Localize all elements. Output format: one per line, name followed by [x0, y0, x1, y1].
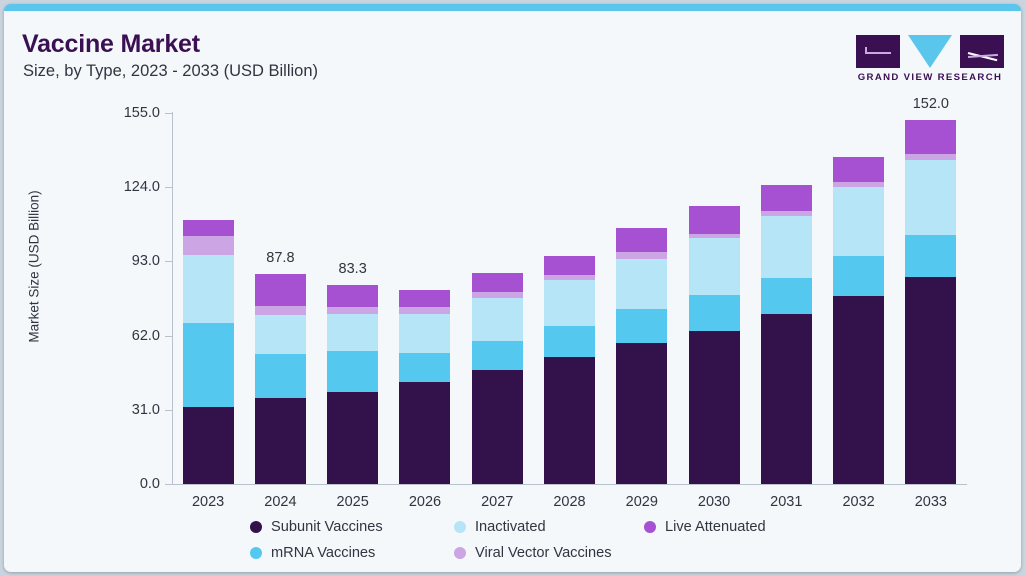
bar-segment[interactable]: [761, 216, 812, 278]
bar-segment[interactable]: [472, 273, 523, 292]
y-axis-tick-mark: [165, 187, 172, 188]
bar-segment[interactable]: [255, 315, 306, 354]
bar-segment[interactable]: [472, 292, 523, 298]
bar-segment[interactable]: [183, 323, 234, 407]
bar-segment[interactable]: [761, 314, 812, 484]
bar-segment[interactable]: [689, 331, 740, 484]
legend-item[interactable]: Inactivated: [454, 519, 546, 535]
bar-segment[interactable]: [399, 382, 450, 484]
y-axis-tick-mark: [165, 336, 172, 337]
x-axis-tick-label: 2026: [409, 494, 441, 510]
bar-segment[interactable]: [544, 326, 595, 357]
bar-segment[interactable]: [905, 277, 956, 484]
x-axis-tick-label: 2025: [337, 494, 369, 510]
bar-segment[interactable]: [616, 228, 667, 252]
x-axis-tick-label: 2023: [192, 494, 224, 510]
legend-item-label: Live Attenuated: [665, 519, 766, 535]
y-axis-tick-label: 31.0: [102, 402, 160, 418]
y-axis-tick-label: 124.0: [102, 179, 160, 195]
logo-wordmark: GRAND VIEW RESEARCH: [856, 72, 1004, 83]
bar-segment[interactable]: [255, 274, 306, 307]
bar-segment[interactable]: [616, 309, 667, 342]
chart-card: Vaccine Market Size, by Type, 2023 - 203…: [4, 4, 1021, 572]
y-axis-tick-label: 0.0: [102, 476, 160, 492]
legend-item-label: mRNA Vaccines: [271, 545, 375, 561]
y-axis-tick-label: 155.0: [102, 105, 160, 121]
bar-value-label: 83.3: [339, 261, 367, 277]
y-axis-tick-label: 62.0: [102, 328, 160, 344]
bar-segment[interactable]: [833, 157, 884, 182]
bar-segment[interactable]: [183, 236, 234, 255]
bar-segment[interactable]: [689, 238, 740, 294]
logo-triangle-icon: [908, 35, 952, 68]
logo-glyphs: [856, 35, 1004, 68]
x-axis-tick-label: 2030: [698, 494, 730, 510]
bar-segment[interactable]: [544, 280, 595, 326]
bar-segment[interactable]: [255, 398, 306, 484]
bar-value-label: 152.0: [913, 96, 949, 112]
x-axis-tick-label: 2033: [915, 494, 947, 510]
chart-legend: Subunit VaccinesInactivatedLive Attenuat…: [250, 519, 810, 572]
x-axis-tick-label: 2031: [770, 494, 802, 510]
legend-color-swatch-icon: [454, 521, 466, 533]
logo-left-tick-icon: [865, 47, 867, 53]
bar-stack[interactable]: [544, 256, 595, 484]
x-axis-tick-label: 2032: [842, 494, 874, 510]
legend-item[interactable]: Viral Vector Vaccines: [454, 545, 612, 561]
legend-item-label: Inactivated: [475, 519, 546, 535]
bar-segment[interactable]: [544, 256, 595, 275]
bar-segment[interactable]: [905, 235, 956, 277]
bar-stack[interactable]: [616, 228, 667, 484]
bar-segment[interactable]: [761, 185, 812, 211]
bar-segment[interactable]: [327, 314, 378, 351]
legend-item[interactable]: Live Attenuated: [644, 519, 766, 535]
bar-segment[interactable]: [833, 182, 884, 187]
bar-segment[interactable]: [255, 306, 306, 315]
bar-stack[interactable]: [689, 206, 740, 484]
bar-stack[interactable]: [761, 185, 812, 484]
x-axis-tick-label: 2029: [626, 494, 658, 510]
bar-segment[interactable]: [327, 307, 378, 315]
bar-segment[interactable]: [833, 296, 884, 484]
logo-block-right-icon: [960, 35, 1004, 68]
y-axis-tick-mark: [165, 410, 172, 411]
y-axis-tick-mark: [165, 484, 172, 485]
y-axis-tick-mark: [165, 113, 172, 114]
legend-item-label: Viral Vector Vaccines: [475, 545, 612, 561]
bar-segment[interactable]: [905, 154, 956, 160]
bar-segment[interactable]: [183, 407, 234, 484]
bar-segment[interactable]: [689, 295, 740, 332]
bar-stack[interactable]: [183, 220, 234, 484]
bar-segment[interactable]: [327, 285, 378, 307]
bar-stack[interactable]: [255, 274, 306, 484]
bar-segment[interactable]: [183, 220, 234, 236]
bar-stack[interactable]: [472, 273, 523, 484]
legend-color-swatch-icon: [250, 547, 262, 559]
legend-color-swatch-icon: [454, 547, 466, 559]
bar-segment[interactable]: [399, 314, 450, 353]
bar-segment[interactable]: [616, 343, 667, 484]
bar-value-label: 87.8: [266, 250, 294, 266]
legend-color-swatch-icon: [250, 521, 262, 533]
bar-segment[interactable]: [399, 290, 450, 307]
bar-segment[interactable]: [616, 259, 667, 309]
legend-item-label: Subunit Vaccines: [271, 519, 383, 535]
chart-plot-area: Market Size (USD Billion) 0.031.062.093.…: [4, 99, 1021, 499]
bar-segment[interactable]: [544, 275, 595, 280]
bar-stack[interactable]: [399, 290, 450, 484]
legend-item[interactable]: Subunit Vaccines: [250, 519, 383, 535]
y-axis-tick-label: 93.0: [102, 253, 160, 269]
bar-segment[interactable]: [399, 353, 450, 382]
bar-segment[interactable]: [833, 187, 884, 256]
bar-stack[interactable]: [905, 120, 956, 484]
bar-segment[interactable]: [761, 211, 812, 216]
bar-segment[interactable]: [183, 255, 234, 323]
legend-color-swatch-icon: [644, 521, 656, 533]
bar-segment[interactable]: [472, 298, 523, 341]
bar-segment[interactable]: [905, 160, 956, 235]
bar-segment[interactable]: [689, 234, 740, 239]
bar-segment[interactable]: [544, 357, 595, 484]
logo-left-bar-icon: [865, 52, 891, 54]
y-axis-label: Market Size (USD Billion): [27, 127, 42, 407]
bar-stack[interactable]: [327, 285, 378, 484]
bar-segment[interactable]: [255, 354, 306, 398]
bar-segment[interactable]: [472, 341, 523, 370]
bar-segment[interactable]: [833, 256, 884, 296]
bar-segment[interactable]: [472, 370, 523, 484]
chart-subtitle: Size, by Type, 2023 - 2033 (USD Billion): [23, 62, 318, 81]
page-title: Vaccine Market: [22, 30, 200, 59]
bar-segment[interactable]: [689, 206, 740, 234]
x-axis-tick-label: 2028: [553, 494, 585, 510]
x-axis-tick-label: 2024: [264, 494, 296, 510]
bar-segment[interactable]: [616, 252, 667, 260]
bar-segment[interactable]: [905, 120, 956, 154]
x-axis-line: [172, 484, 967, 485]
bar-stack[interactable]: [833, 157, 884, 484]
x-axis-tick-label: 2027: [481, 494, 513, 510]
y-axis-line: [172, 112, 173, 484]
grand-view-research-logo: GRAND VIEW RESEARCH: [856, 35, 1004, 87]
bar-segment[interactable]: [327, 392, 378, 484]
bar-segment[interactable]: [399, 307, 450, 314]
y-axis-tick-mark: [165, 261, 172, 262]
bar-segment[interactable]: [327, 351, 378, 392]
legend-item[interactable]: mRNA Vaccines: [250, 545, 375, 561]
bar-segment[interactable]: [761, 278, 812, 314]
